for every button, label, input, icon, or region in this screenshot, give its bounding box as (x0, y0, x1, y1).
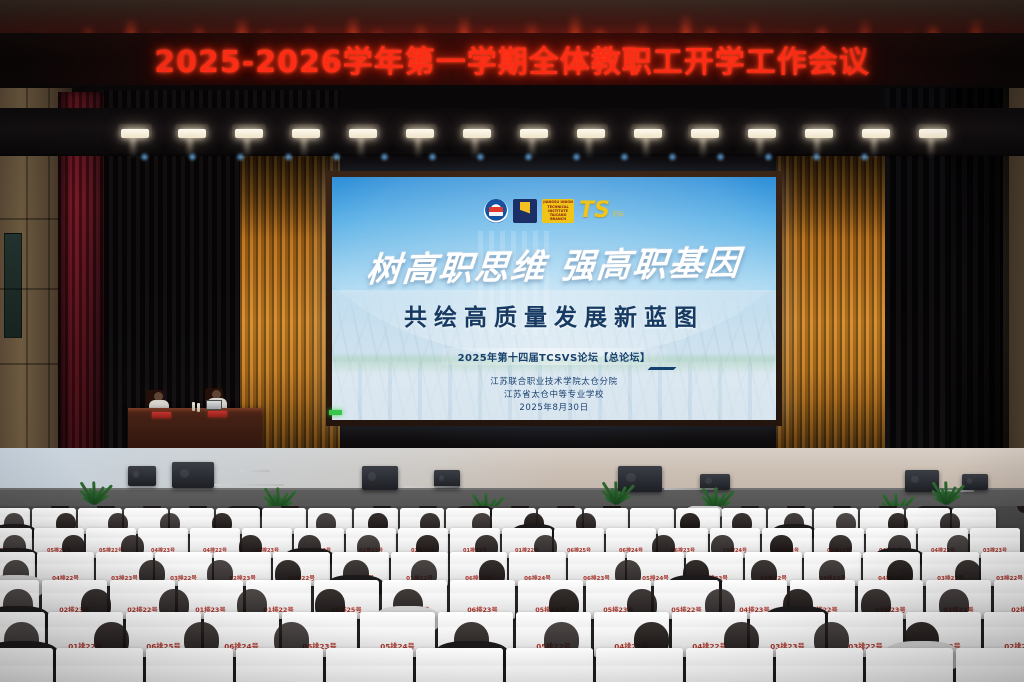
stage-light-beam (358, 138, 364, 158)
projection-screen: JIANGSU UNION TECHNICAL INSTITUTE TAICAN… (332, 177, 776, 420)
stage-light-lens (748, 129, 776, 138)
chair-cover-top (952, 508, 996, 517)
school-emblem-logo (484, 199, 508, 223)
lighting-truss (0, 108, 1024, 154)
chair-cover-top (262, 508, 306, 517)
truss-uplight (332, 152, 341, 162)
stage-light-beam (643, 138, 649, 158)
stage-light-lens (862, 129, 890, 138)
stage-light-beam (871, 138, 877, 158)
chair-cover-top (606, 528, 656, 538)
chair-cover-top (568, 552, 625, 564)
stage-light (118, 124, 152, 144)
auditorium-photo: 2025-2026学年第一学期全体教职工开学工作会议 JIANGSU UNION… (0, 0, 1024, 682)
audience-chair: 05排24号 (146, 648, 233, 682)
stage-light (574, 124, 608, 144)
audience-area: 05排24号05排23号05排22号04排23号04排22号03排23号03排2… (0, 506, 1024, 682)
stage-light-lens (463, 129, 491, 138)
stage-light-beam (700, 138, 706, 158)
chair-cover-top (750, 612, 825, 627)
chair-cover-top (538, 508, 582, 517)
stage-light (289, 124, 323, 144)
chair-cover-top (654, 580, 719, 593)
chair-cover-top (0, 648, 53, 666)
truss-uplight (620, 152, 629, 162)
chair-cover-top (450, 580, 515, 593)
chair-cover-top (956, 648, 1024, 666)
child-figure-logo (513, 199, 537, 223)
truss-uplight (140, 152, 149, 162)
name-plate (152, 412, 171, 418)
stage-cable (240, 470, 270, 472)
chair-cover-top (37, 552, 94, 564)
stage-light (859, 124, 893, 144)
led-banner: 2025-2026学年第一学期全体教职工开学工作会议 (0, 33, 1024, 85)
stage-light (517, 124, 551, 144)
chair-cover-top (138, 528, 188, 538)
stage-light (916, 124, 950, 144)
stage-light-lens (805, 129, 833, 138)
stage-light-lens (178, 129, 206, 138)
stage-monitor-speaker (128, 466, 156, 486)
chair-cover-top (630, 508, 674, 517)
truss-uplight (188, 152, 197, 162)
stage-light (232, 124, 266, 144)
chair-cover-top (866, 648, 953, 666)
chair-cover-top (970, 528, 1020, 538)
chair-cover-top (745, 552, 802, 564)
stage-light-lens (520, 129, 548, 138)
truss-uplight (860, 152, 869, 162)
chair-cover-top (981, 552, 1024, 564)
organization-date: 2025年8月30日 (490, 402, 617, 415)
audience-chair: 03排23号 (596, 648, 683, 682)
stage-light-lens (919, 129, 947, 138)
tcsvs-forum-mark: TS (579, 202, 610, 221)
chair-cover-top (686, 648, 773, 666)
chair-cover-top (994, 580, 1024, 593)
stage-light-beam (130, 138, 136, 158)
truss-uplight (716, 152, 725, 162)
water-bottle (197, 403, 200, 412)
stage-light (631, 124, 665, 144)
stage-light-beam (415, 138, 421, 158)
led-banner-text: 2025-2026学年第一学期全体教职工开学工作会议 (154, 37, 869, 81)
truss-uplight (812, 152, 821, 162)
chair-cover-top (360, 612, 435, 627)
screen-subheadline: 共绘高质量发展新蓝图 (404, 298, 704, 332)
curtain-orange-right (776, 150, 888, 462)
stage-light-beam (928, 138, 934, 158)
stage-light (346, 124, 380, 144)
stage-light (175, 124, 209, 144)
audience-chair: 06排23号 (56, 648, 143, 682)
chair-cover-top (236, 648, 323, 666)
chair-cover-top (326, 648, 413, 666)
name-plate (208, 411, 227, 417)
screen-organization-lines: 江苏联合职业技术学院太仓分院 江苏省太仓中等专业学校 2025年8月30日 (490, 376, 617, 416)
potted-plant (600, 472, 634, 504)
stage-light (460, 124, 494, 144)
chair-cover-top (204, 612, 279, 627)
chair-cover-top (56, 648, 143, 666)
stage-monitor-speaker (362, 466, 398, 490)
organization-line-1: 江苏联合职业技术学院太仓分院 (490, 376, 617, 389)
wall-picture-frame (4, 233, 22, 338)
head-table-lip (128, 408, 262, 413)
chair-cover-top (722, 580, 787, 593)
stage-light-beam (301, 138, 307, 158)
water-bottle (192, 402, 195, 411)
chair-cover-top (554, 528, 604, 538)
audience-head (1017, 506, 1024, 513)
yellow-text-badge-logo: JIANGSU UNION TECHNICAL INSTITUTE TAICAN… (542, 199, 574, 223)
stage-light-beam (757, 138, 763, 158)
screen-logo-row: JIANGSU UNION TECHNICAL INSTITUTE TAICAN… (484, 199, 624, 223)
screen-headline: 树高职思维 强高职基因 (365, 235, 744, 291)
stage-light (802, 124, 836, 144)
presenter-laptop (206, 400, 222, 410)
stage-light-beam (586, 138, 592, 158)
audience-chair: 05排22号 (326, 648, 413, 682)
truss-uplight (668, 152, 677, 162)
chair-cover-top (155, 552, 212, 564)
stage-light (745, 124, 779, 144)
tcsvs-forum-logo: TS 论坛 (579, 202, 624, 221)
stage-monitor-speaker (962, 474, 988, 490)
truss-uplight (524, 152, 533, 162)
truss-uplight (284, 152, 293, 162)
chair-cover-top (146, 648, 233, 666)
chair-cover-top (506, 648, 593, 666)
chair-cover-top (776, 648, 863, 666)
chair-cover-top (509, 552, 566, 564)
stage-light (403, 124, 437, 144)
stage-light-lens (634, 129, 662, 138)
audience-chair: 02排23号 (776, 648, 863, 682)
audience-chair: 06排24号 (0, 648, 53, 682)
potted-plant (930, 472, 964, 504)
screen-forum-label: 2025年第十四届TCSVS论坛【总论坛】 (458, 349, 651, 364)
chair-cover-top (984, 612, 1024, 627)
audience-chair: 05排23号 (236, 648, 323, 682)
organization-line-2: 江苏省太仓中等专业学校 (490, 389, 617, 402)
stage-light-lens (406, 129, 434, 138)
stage-monitor-speaker (172, 462, 214, 488)
truss-uplight (380, 152, 389, 162)
stage-light-lens (121, 129, 149, 138)
stage-light-lens (691, 129, 719, 138)
chair-cover-top (178, 580, 243, 593)
audience-chair: 01排23号 (956, 648, 1024, 682)
stage-light-lens (577, 129, 605, 138)
truss-uplight (572, 152, 581, 162)
stage-light-lens (349, 129, 377, 138)
audience-chair: 04排23号 (416, 648, 503, 682)
tcsvs-forum-sub: 论坛 (612, 209, 624, 220)
chair-cover-top (416, 648, 503, 666)
potted-plant (78, 472, 112, 504)
chair-cover-top (596, 648, 683, 666)
audience-chair: 04排22号 (506, 648, 593, 682)
stage-light (688, 124, 722, 144)
screen-forum-bar: 2025年第十四届TCSVS论坛【总论坛】 (442, 348, 667, 365)
truss-uplight (476, 152, 485, 162)
screen-status-led (329, 410, 342, 415)
truss-uplight (764, 152, 773, 162)
stage-light-lens (235, 129, 263, 138)
audience-chair: 02排22号 (866, 648, 953, 682)
truss-uplight (236, 152, 245, 162)
truss-uplight (428, 152, 437, 162)
stage-cable (404, 486, 464, 488)
audience-chair: 03排22号 (686, 648, 773, 682)
stage-light-lens (292, 129, 320, 138)
chair-cover-top (190, 528, 240, 538)
